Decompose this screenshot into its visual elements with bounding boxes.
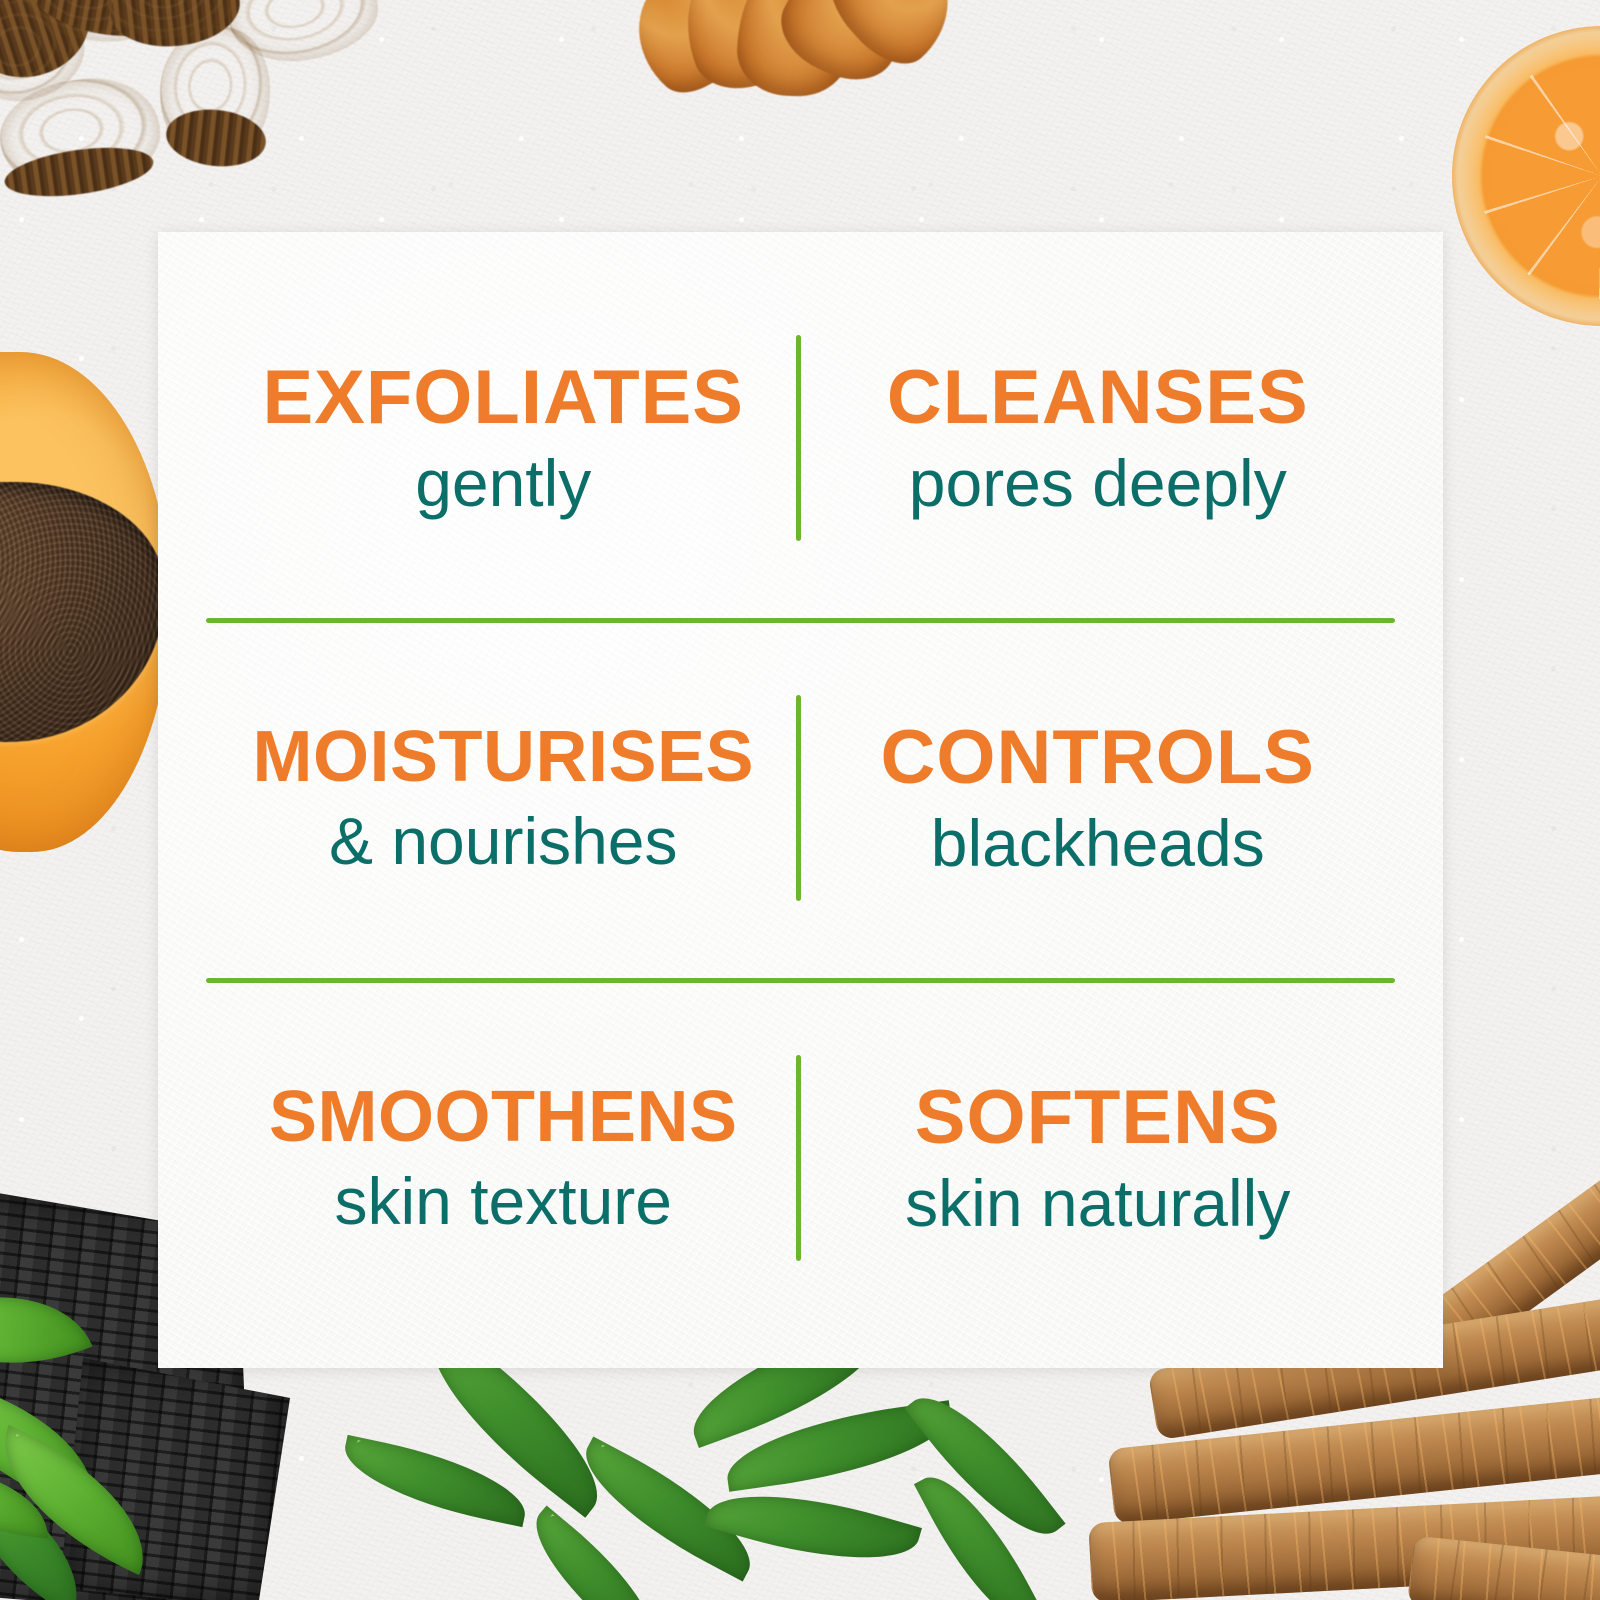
licorice-root-slices <box>0 0 380 230</box>
benefit-headline: CLEANSES <box>815 359 1382 437</box>
benefit-headline: SMOOTHENS <box>220 1081 787 1154</box>
benefit-smoothens: SMOOTHENS skin texture <box>206 1081 801 1236</box>
benefit-subline: skin naturally <box>815 1170 1382 1237</box>
benefit-subline: & nourishes <box>220 808 787 875</box>
benefit-headline: CONTROLS <box>815 719 1382 797</box>
dried-flower <box>620 0 960 150</box>
product-benefits-graphic: EXFOLIATES gently CLEANSES pores deeply … <box>0 0 1600 1600</box>
benefit-headline: SOFTENS <box>815 1079 1382 1157</box>
neem-leaves <box>330 1358 1030 1600</box>
benefit-subline: blackheads <box>815 810 1382 877</box>
benefit-exfoliates: EXFOLIATES gently <box>206 359 801 518</box>
benefit-controls: CONTROLS blackheads <box>801 719 1396 878</box>
benefits-card: EXFOLIATES gently CLEANSES pores deeply … <box>158 232 1443 1368</box>
benefits-row-2: MOISTURISES & nourishes CONTROLS blackhe… <box>206 618 1395 978</box>
benefits-row-1: EXFOLIATES gently CLEANSES pores deeply <box>206 258 1395 618</box>
benefit-headline: EXFOLIATES <box>220 359 787 437</box>
benefit-subline: skin texture <box>220 1168 787 1235</box>
benefit-moisturises: MOISTURISES & nourishes <box>206 721 801 876</box>
benefit-softens: SOFTENS skin naturally <box>801 1079 1396 1238</box>
benefit-headline: MOISTURISES <box>220 721 787 794</box>
benefit-subline: gently <box>220 450 787 517</box>
benefits-row-3: SMOOTHENS skin texture SOFTENS skin natu… <box>206 978 1395 1338</box>
benefit-subline: pores deeply <box>815 450 1382 517</box>
benefit-cleanses: CLEANSES pores deeply <box>801 359 1396 518</box>
